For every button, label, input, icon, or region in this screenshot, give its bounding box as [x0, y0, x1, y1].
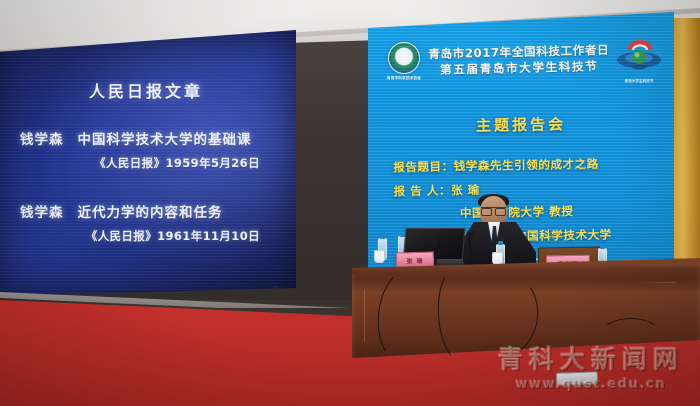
banner-headline: 青岛市2017年全国科技工作者日 第五届青岛市大学生科技节 [424, 42, 615, 80]
bottle-cap-icon [600, 245, 605, 249]
presentation-slide: 人民日报文章 钱学森中国科学技术大学的基础课 《人民日报》1959年5月26日 … [0, 52, 296, 292]
logo-emblem-icon [388, 42, 420, 74]
slide-entry-article: 近代力学的内容和任务 [78, 205, 223, 221]
power-strip [556, 371, 598, 385]
slide-entry-author: 钱学森 [20, 132, 64, 148]
banner-event-title: 主题报告会 [368, 111, 674, 137]
bottle-cap-icon [498, 241, 503, 245]
slide-entry-heading: 钱学森近代力学的内容和任务 [6, 201, 286, 221]
slide-entry-article: 中国科学技术大学的基础课 [78, 132, 252, 148]
eyeglasses-icon [481, 207, 506, 214]
slide-entry: 钱学森近代力学的内容和任务 《人民日报》1961年11月10日 [0, 201, 296, 244]
projection-screen: 人民日报文章 钱学森中国科学技术大学的基础课 《人民日报》1959年5月26日 … [0, 30, 296, 296]
cable [600, 318, 662, 354]
banner-headline-line2: 第五届青岛市大学生科技节 [424, 58, 614, 79]
logo-caption: 青岛市科学技术协会 [386, 76, 422, 81]
university-student-science-festival-logo: 青岛大学生科技节 [612, 34, 666, 86]
qingdao-association-science-technology-logo: 青岛市科学技术协会 [386, 42, 422, 82]
slide-entry-author: 钱学森 [20, 205, 64, 221]
paper-cup [374, 250, 385, 263]
conference-hall-photo: 人民日报文章 钱学森中国科学技术大学的基础课 《人民日报》1959年5月26日 … [0, 0, 700, 406]
paper-cup [492, 252, 503, 265]
slide-entry-source: 《人民日报》1959年5月26日 [6, 155, 286, 171]
science-festival-emblem-icon [614, 34, 664, 74]
bottle-cap-icon [380, 235, 385, 239]
slide-entry-heading: 钱学森中国科学技术大学的基础课 [6, 128, 286, 148]
slide-entry: 钱学森中国科学技术大学的基础课 《人民日报》1959年5月26日 [0, 128, 296, 171]
logo-caption: 青岛大学生科技节 [612, 79, 666, 84]
slide-entry-source: 《人民日报》1961年11月10日 [6, 228, 286, 244]
slide-title: 人民日报文章 [0, 78, 296, 102]
